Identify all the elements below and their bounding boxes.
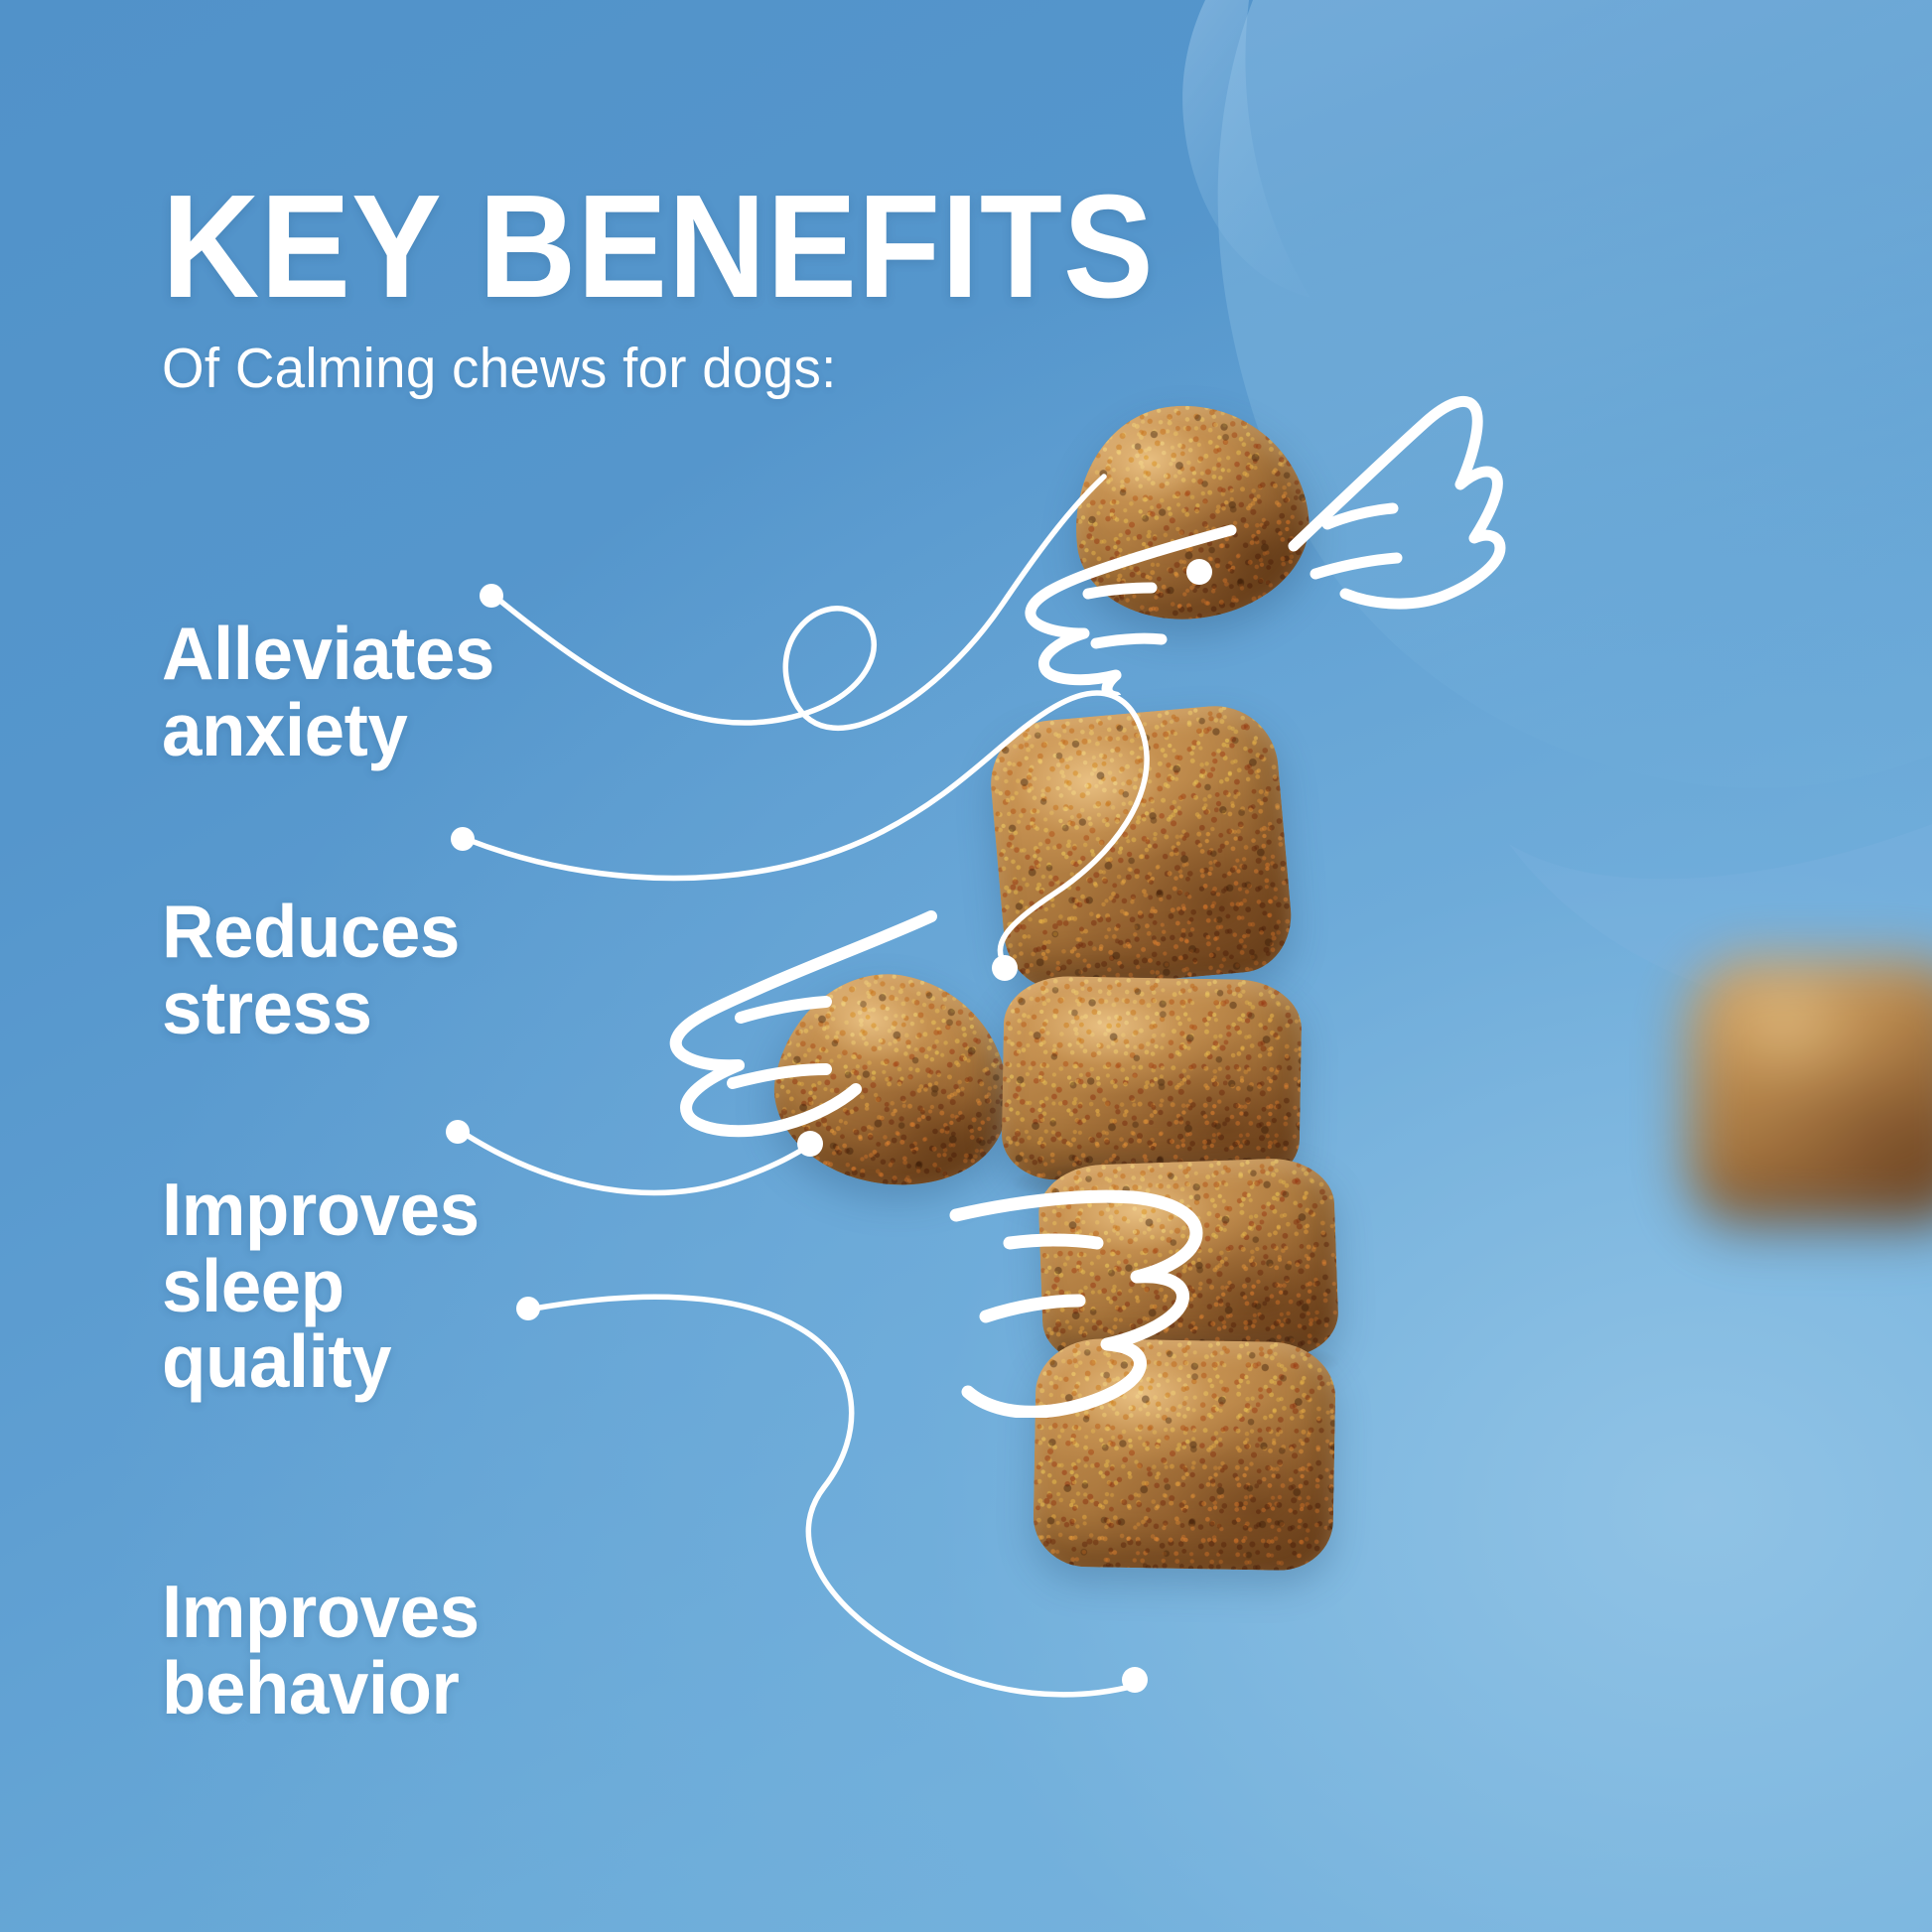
product-treat-stack-4 <box>1033 1337 1336 1571</box>
product-treat-stack-1 <box>986 701 1296 993</box>
benefit-label: Alleviates anxiety <box>162 616 494 767</box>
product-treat-flying-middle <box>759 954 1031 1206</box>
benefit-item-reduces-stress: Reduces stress <box>162 894 469 1045</box>
promo-canvas: KEY BENEFITS Of Calming chews for dogs: … <box>0 0 1932 1932</box>
benefit-label: Reduces stress <box>162 894 460 1045</box>
connector-endpoint-dot <box>480 584 503 608</box>
chew-body <box>986 701 1296 993</box>
connector-path-improves-sleep-quality <box>465 1134 812 1192</box>
connector-path-alleviates-anxiety <box>496 477 1104 728</box>
chew-body <box>1033 1337 1336 1571</box>
connector-endpoint-dot <box>446 1120 470 1144</box>
benefit-label: Improves behavior <box>162 1574 480 1725</box>
page-title: KEY BENEFITS <box>162 177 1441 318</box>
product-treat-stack-3 <box>1037 1157 1340 1365</box>
benefit-item-improves-sleep-quality: Improves sleep quality <box>162 1172 488 1400</box>
product-treat-flying-top <box>1063 393 1317 629</box>
page-subtitle: Of Calming chews for dogs: <box>162 340 1496 399</box>
header-block: KEY BENEFITS Of Calming chews for dogs: <box>162 177 1552 399</box>
benefit-item-improves-behavior: Improves behavior <box>162 1574 488 1725</box>
angel-wing-outline-icon <box>1276 367 1593 616</box>
chew-body <box>1001 975 1303 1183</box>
product-treat-blurred-right <box>1688 958 1932 1221</box>
chew-body <box>1688 958 1932 1221</box>
connector-endpoint-dot <box>1122 1667 1148 1693</box>
chew-body <box>1037 1157 1340 1365</box>
chew-body <box>759 954 1031 1206</box>
chew-body <box>1063 393 1317 629</box>
product-treat-stack-2 <box>1001 975 1303 1183</box>
benefit-item-alleviates-anxiety: Alleviates anxiety <box>162 616 504 767</box>
connector-endpoint-dot <box>516 1297 540 1320</box>
connector-endpoint-dot <box>451 827 475 851</box>
benefit-label: Improves sleep quality <box>162 1172 480 1400</box>
